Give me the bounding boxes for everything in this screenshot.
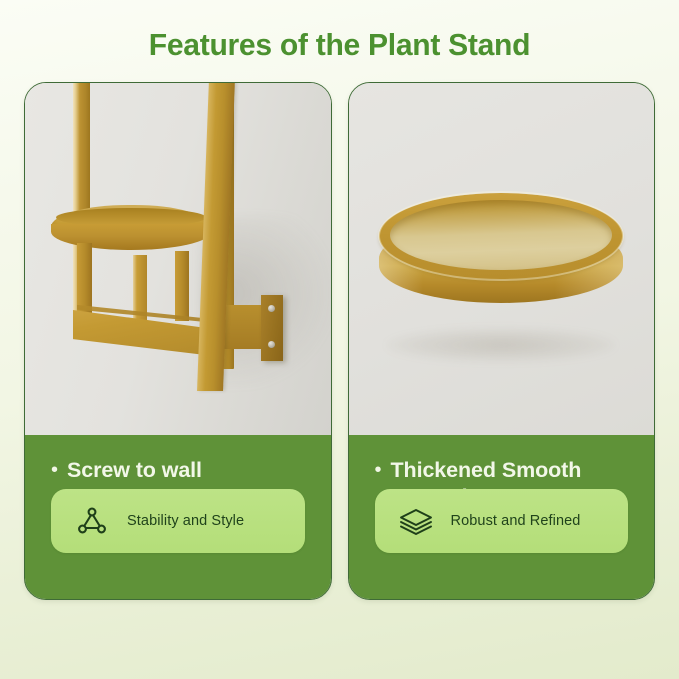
feature-tag-label: Stability and Style [127, 513, 244, 529]
page-title: Features of the Plant Stand [10, 0, 669, 62]
product-photo-base-plate [349, 83, 655, 435]
tray-inner-surface [390, 200, 612, 270]
stand-leg-3 [175, 251, 189, 321]
feature-headline-row-left: • Screw to wall [51, 457, 305, 484]
feature-tag-pill-right[interactable]: Robust and Refined [375, 489, 629, 553]
tray-scene [349, 83, 655, 435]
product-photo-wall-mount [25, 83, 331, 435]
feature-tag-label: Robust and Refined [451, 513, 581, 529]
feature-cards-row: • Screw to wall Stability and Style [0, 62, 679, 600]
bullet-icon: • [375, 457, 382, 483]
feature-card-base-plate[interactable]: • Thickened Smooth Base Plate Robust and… [348, 82, 656, 600]
feature-headline: Screw to wall [67, 457, 202, 484]
layers-stack-icon [397, 504, 435, 538]
stand-leg-1 [77, 243, 92, 315]
bullet-icon: • [51, 457, 58, 483]
feature-panel-right: • Thickened Smooth Base Plate Robust and… [349, 435, 655, 599]
feature-panel-left: • Screw to wall Stability and Style [25, 435, 331, 599]
tray-drop-shadow [386, 328, 616, 362]
feature-tag-pill-left[interactable]: Stability and Style [51, 489, 305, 553]
feature-card-screw-to-wall[interactable]: • Screw to wall Stability and Style [24, 82, 332, 600]
triangle-nodes-icon [73, 504, 111, 538]
wall-bracket-arm [223, 305, 265, 349]
